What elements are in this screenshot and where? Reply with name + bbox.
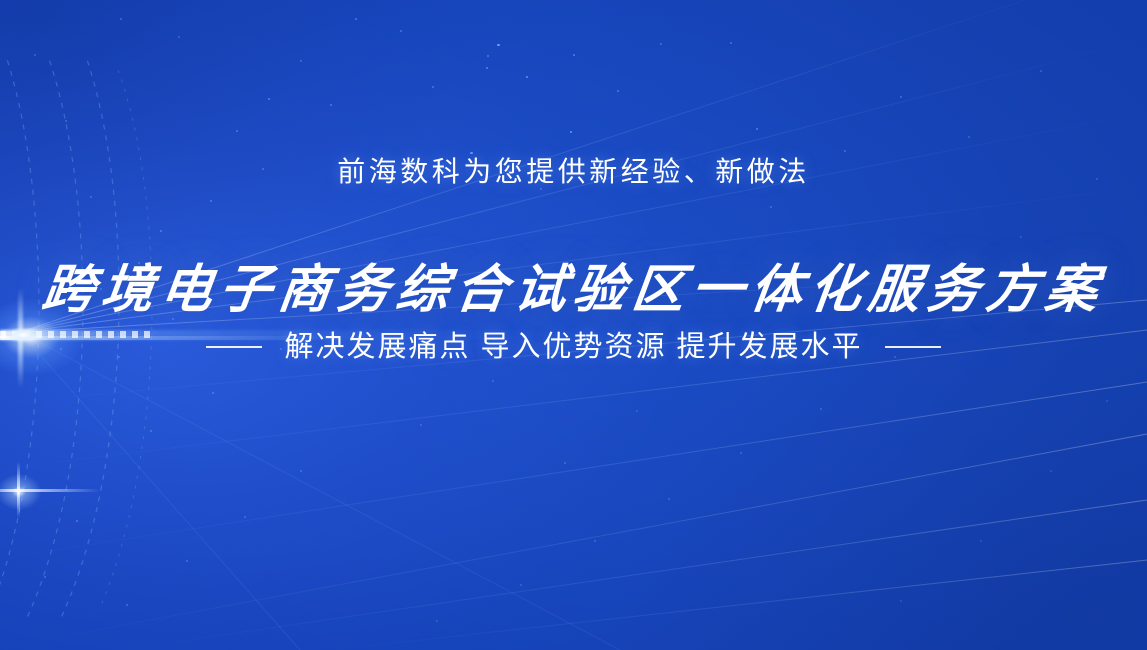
tagline-rule-left <box>206 346 262 348</box>
tagline-rule-right <box>885 346 941 348</box>
banner-title: 跨境电子商务综合试验区一体化服务方案 <box>0 257 1147 323</box>
banner-tagline-row: 解决发展痛点 导入优势资源 提升发展水平 <box>0 327 1147 367</box>
banner-subtitle: 前海数科为您提供新经验、新做法 <box>0 152 1147 192</box>
banner-content: 前海数科为您提供新经验、新做法 跨境电子商务综合试验区一体化服务方案 解决发展痛… <box>0 0 1147 650</box>
promo-banner: 前海数科为您提供新经验、新做法 跨境电子商务综合试验区一体化服务方案 解决发展痛… <box>0 0 1147 650</box>
banner-tagline: 解决发展痛点 导入优势资源 提升发展水平 <box>284 327 862 367</box>
